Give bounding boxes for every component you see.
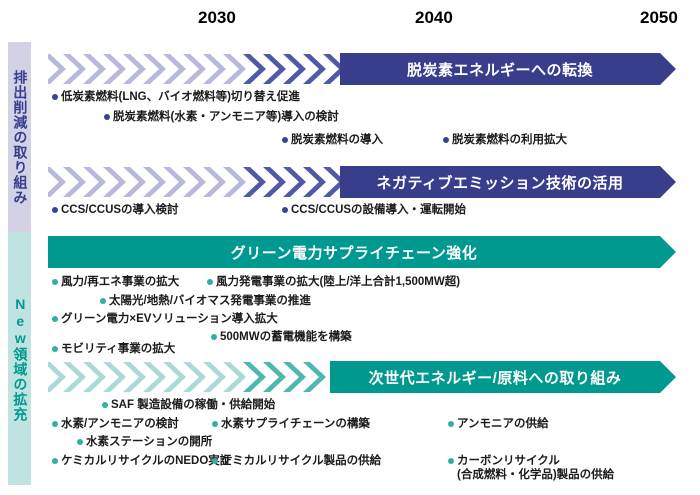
- milestone-item: SAF 製造設備の稼働・供給開始: [102, 398, 275, 412]
- milestone-label: ケミカルリサイクル製品の供給: [221, 454, 381, 468]
- bullet-dot-icon: [212, 458, 218, 464]
- band-next-gen-energy: 次世代エネルギー/原料への取り組み: [48, 361, 676, 393]
- bullet-dot-icon: [52, 207, 58, 213]
- chevron: [163, 54, 186, 84]
- bullet-dot-icon: [282, 207, 288, 213]
- chevron: [263, 54, 286, 84]
- chevron: [63, 362, 86, 392]
- chevron: [303, 167, 326, 197]
- band-title: グリーン電力サプライチェーン強化: [48, 236, 660, 268]
- chevron: [83, 54, 106, 84]
- chevron: [263, 167, 286, 197]
- chevron: [283, 167, 306, 197]
- milestone-item: 水素ステーションの開所: [77, 435, 212, 449]
- category-rail-1: 排出削減の取り組み: [8, 42, 31, 232]
- roadmap-canvas: 203020402050排出削減の取り組みNew領域の拡充脱炭素エネルギーへの転…: [0, 0, 700, 495]
- chevron: [183, 54, 206, 84]
- milestone-label: 水素/アンモニアの検討: [61, 417, 179, 431]
- milestone-label: アンモニアの供給: [457, 417, 549, 431]
- year-label-2040: 2040: [415, 8, 453, 28]
- chevron: [283, 362, 306, 392]
- category-rail-label: New領域の拡充: [12, 296, 28, 422]
- band-title: ネガティブエミッション技術の活用: [340, 166, 660, 198]
- milestone-label: 風力発電事業の拡大(陸上/洋上合計1,500MW超): [216, 275, 460, 289]
- milestone-label: 脱炭素燃料(水素・アンモニア等)導入の検討: [113, 110, 339, 124]
- milestone-item: 太陽光/地熱/バイオマス発電事業の推進: [100, 294, 311, 308]
- milestone-label: 低炭素燃料(LNG、バイオ燃料等)切り替え促進: [61, 90, 300, 104]
- milestone-label: CCS/CCUSの設備導入・運転開始: [291, 203, 466, 217]
- chevron: [143, 167, 166, 197]
- chevron: [123, 54, 146, 84]
- chevron: [303, 54, 326, 84]
- bullet-dot-icon: [207, 279, 213, 285]
- chevron: [203, 167, 226, 197]
- milestone-label: 脱炭素燃料の導入: [291, 133, 383, 147]
- band-decarbonized-energy: 脱炭素エネルギーへの転換: [48, 53, 676, 85]
- chevron: [123, 362, 146, 392]
- milestone-item: 低炭素燃料(LNG、バイオ燃料等)切り替え促進: [52, 90, 300, 104]
- milestone-item: 脱炭素燃料の導入: [282, 133, 383, 147]
- milestone-item: 500MWの蓄電機能を構築: [211, 330, 352, 344]
- chevron: [143, 362, 166, 392]
- milestone-label: 水素サプライチェーンの構築: [221, 417, 370, 431]
- chevron: [83, 362, 106, 392]
- bullet-dot-icon: [102, 402, 108, 408]
- bullet-dot-icon: [211, 334, 217, 340]
- chevron: [83, 167, 106, 197]
- chevron: [243, 54, 266, 84]
- milestone-item: CCS/CCUSの設備導入・運転開始: [282, 203, 466, 217]
- band-title: 次世代エネルギー/原料への取り組み: [330, 361, 660, 393]
- chevron: [123, 167, 146, 197]
- chevron: [243, 362, 266, 392]
- bullet-dot-icon: [100, 298, 106, 304]
- milestone-item: ケミカルリサイクルのNEDO実証: [52, 454, 231, 468]
- milestone-label: 500MWの蓄電機能を構築: [220, 330, 352, 344]
- band-negative-emission: ネガティブエミッション技術の活用: [48, 166, 676, 198]
- milestone-label: カーボンリサイクル (合成燃料・化学品)製品の供給: [457, 454, 614, 483]
- bullet-dot-icon: [443, 137, 449, 143]
- milestone-item: 脱炭素燃料の利用拡大: [443, 133, 567, 147]
- chevron: [203, 362, 226, 392]
- chevron: [243, 167, 266, 197]
- band-green-power-supply-chain: グリーン電力サプライチェーン強化: [48, 236, 676, 268]
- milestone-item: ケミカルリサイクル製品の供給: [212, 454, 381, 468]
- chevron: [223, 167, 246, 197]
- milestone-item: カーボンリサイクル (合成燃料・化学品)製品の供給: [448, 454, 614, 483]
- chevron: [163, 167, 186, 197]
- chevron: [143, 54, 166, 84]
- band-title: 脱炭素エネルギーへの転換: [340, 53, 660, 85]
- year-label-2050: 2050: [640, 8, 678, 28]
- chevron: [103, 167, 126, 197]
- chevron: [48, 362, 66, 392]
- milestone-item: グリーン電力×EVソリューション導入拡大: [52, 312, 278, 326]
- chevron: [163, 362, 186, 392]
- milestone-item: CCS/CCUSの導入検討: [52, 203, 179, 217]
- bullet-dot-icon: [77, 439, 83, 445]
- chevron: [48, 54, 66, 84]
- chevron: [63, 54, 86, 84]
- milestone-item: モビリティ事業の拡大: [52, 342, 175, 356]
- milestone-label: 風力/再エネ事業の拡大: [61, 275, 179, 289]
- milestone-item: アンモニアの供給: [448, 417, 549, 431]
- milestone-label: CCS/CCUSの導入検討: [61, 203, 179, 217]
- bullet-dot-icon: [52, 458, 58, 464]
- milestone-item: 風力/再エネ事業の拡大: [52, 275, 179, 289]
- chevron: [283, 54, 306, 84]
- bullet-dot-icon: [52, 316, 58, 322]
- milestone-item: 風力発電事業の拡大(陸上/洋上合計1,500MW超): [207, 275, 460, 289]
- chevron: [183, 167, 206, 197]
- bullet-dot-icon: [52, 346, 58, 352]
- chevron: [263, 362, 286, 392]
- year-label-2030: 2030: [198, 8, 236, 28]
- milestone-label: SAF 製造設備の稼働・供給開始: [111, 398, 275, 412]
- bullet-dot-icon: [282, 137, 288, 143]
- bullet-dot-icon: [448, 458, 454, 464]
- chevron: [203, 54, 226, 84]
- bullet-dot-icon: [448, 421, 454, 427]
- category-rail-2: New領域の拡充: [8, 232, 31, 485]
- category-rail-label: 排出削減の取り組み: [12, 70, 28, 205]
- chevron: [303, 362, 326, 392]
- chevron: [103, 54, 126, 84]
- bullet-dot-icon: [52, 279, 58, 285]
- milestone-label: 水素ステーションの開所: [86, 435, 212, 449]
- milestone-label: グリーン電力×EVソリューション導入拡大: [61, 312, 278, 326]
- milestone-label: 太陽光/地熱/バイオマス発電事業の推進: [109, 294, 311, 308]
- milestone-label: 脱炭素燃料の利用拡大: [452, 133, 567, 147]
- bullet-dot-icon: [212, 421, 218, 427]
- milestone-item: 脱炭素燃料(水素・アンモニア等)導入の検討: [104, 110, 339, 124]
- milestone-item: 水素/アンモニアの検討: [52, 417, 179, 431]
- bullet-dot-icon: [104, 114, 110, 120]
- bullet-dot-icon: [52, 421, 58, 427]
- chevron: [223, 54, 246, 84]
- chevron: [183, 362, 206, 392]
- chevron: [48, 167, 66, 197]
- chevron: [103, 362, 126, 392]
- chevron: [223, 362, 246, 392]
- milestone-item: 水素サプライチェーンの構築: [212, 417, 370, 431]
- milestone-label: ケミカルリサイクルのNEDO実証: [61, 454, 231, 468]
- milestone-label: モビリティ事業の拡大: [61, 342, 175, 356]
- bullet-dot-icon: [52, 94, 58, 100]
- chevron: [63, 167, 86, 197]
